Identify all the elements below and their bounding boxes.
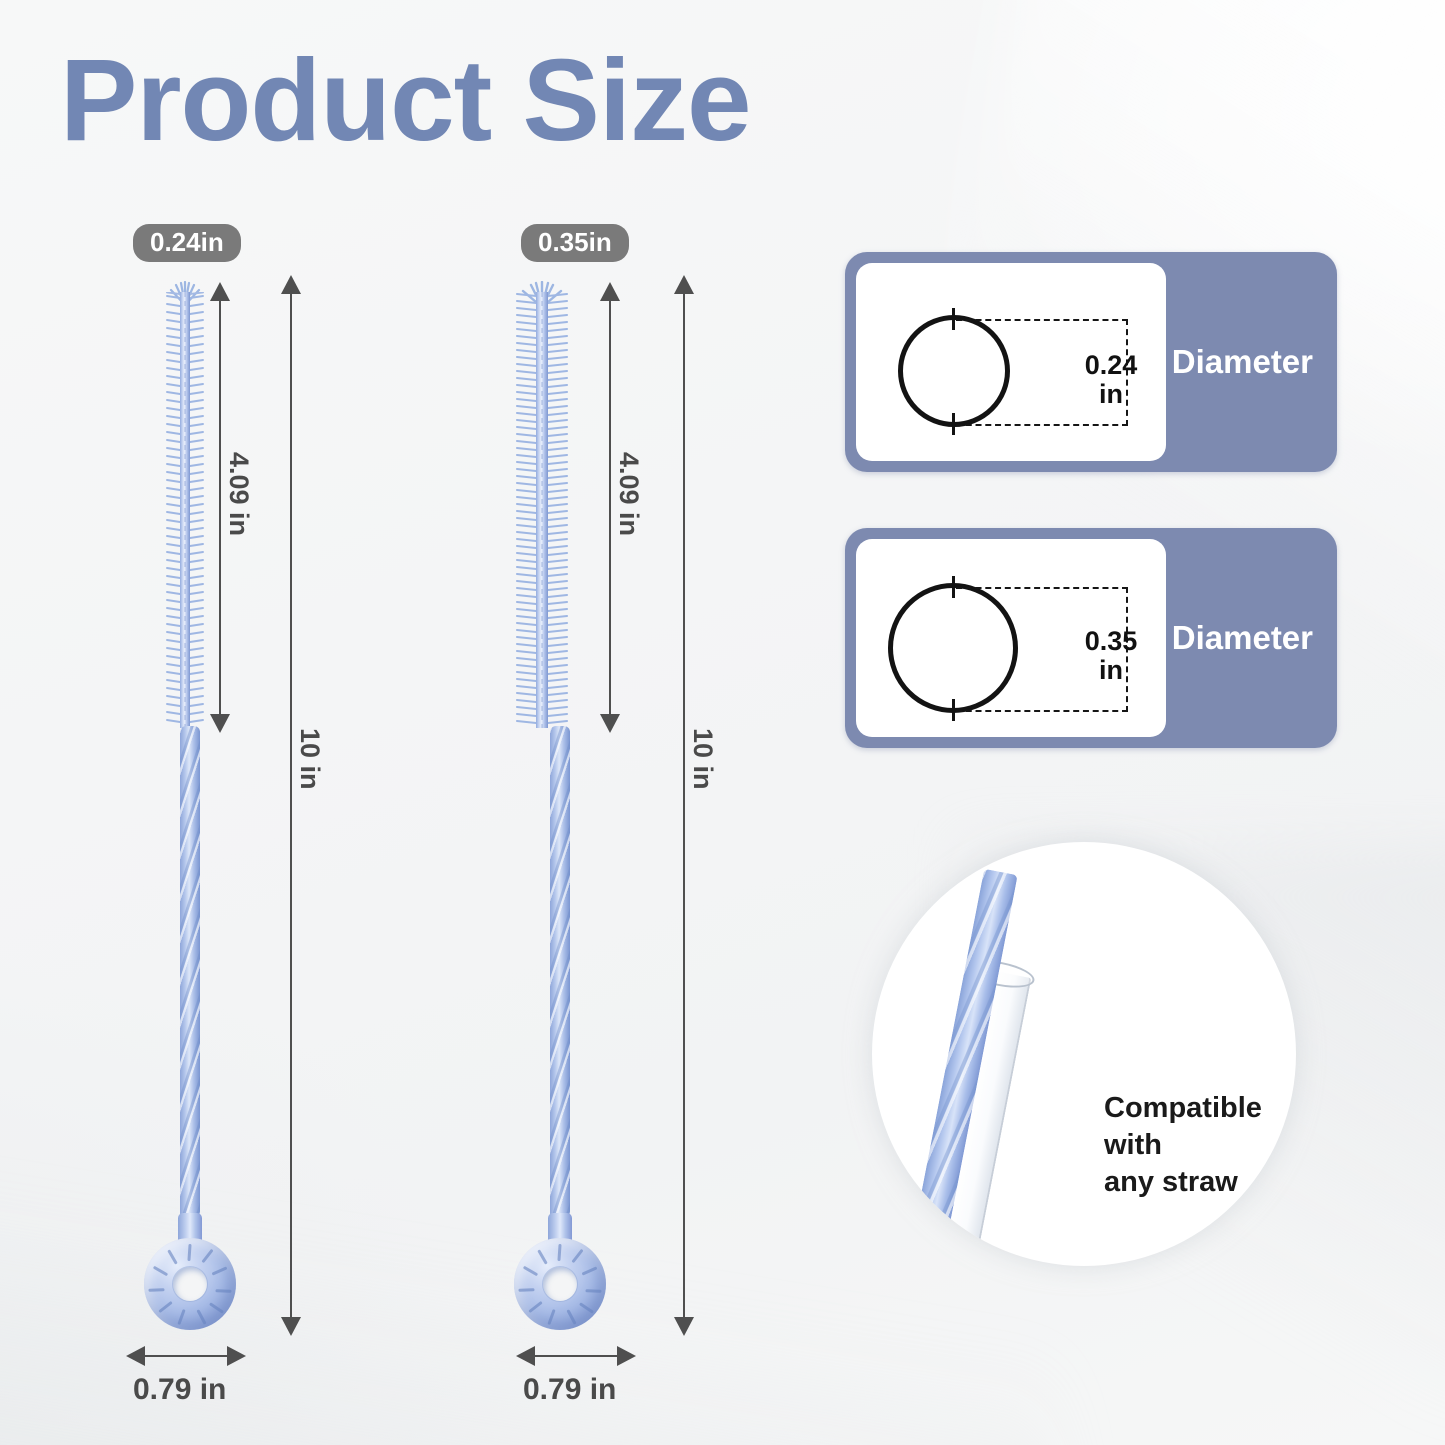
diameter-card-small-panel: 0.24 in xyxy=(856,263,1166,461)
diameter-card-small-label: Diameter xyxy=(1172,343,1313,381)
caption-line-2: any straw xyxy=(1104,1166,1238,1198)
diameter-dash-bottom-large xyxy=(956,710,1128,712)
diameter-tick-top-large xyxy=(952,576,955,598)
brush-large-shaft xyxy=(550,726,570,1219)
brush-large-ring-hole xyxy=(543,1267,577,1301)
diameter-card-small: 0.24 in Diameter xyxy=(845,252,1337,472)
straw-compatibility-inset: Compatible with any straw xyxy=(872,842,1296,1266)
diameter-value-unit-small: in xyxy=(1099,379,1123,409)
straw-compatibility-caption: Compatible with any straw xyxy=(1104,1090,1294,1201)
brush-large-ring-handle xyxy=(514,1238,606,1330)
diameter-circle-small xyxy=(898,315,1010,427)
product-size-infographic: Product Size 0.24in 0.35in xyxy=(0,0,1445,1445)
dimension-label-width-large: 0.79 in xyxy=(523,1373,616,1407)
diameter-card-large: 0.35 in Diameter xyxy=(845,528,1337,748)
caption-line-1: Compatible with xyxy=(1104,1092,1262,1161)
diameter-value-unit-large: in xyxy=(1099,655,1123,685)
diameter-tick-bottom-large xyxy=(952,699,955,721)
brush-large-bristles xyxy=(514,292,570,728)
diameter-tick-top-small xyxy=(952,308,955,330)
diameter-value-number-small: 0.24 xyxy=(1085,350,1138,380)
diameter-tick-bottom-small xyxy=(952,413,955,435)
diameter-dash-top-small xyxy=(956,319,1128,321)
diameter-value-large: 0.35 in xyxy=(1078,627,1144,685)
diameter-circle-large xyxy=(888,583,1018,713)
diameter-value-number-large: 0.35 xyxy=(1085,626,1138,656)
diameter-dash-bottom-small xyxy=(956,424,1128,426)
diameter-card-large-panel: 0.35 in xyxy=(856,539,1166,737)
dimension-label-brush-length-large: 4.09 in xyxy=(613,452,644,536)
diameter-value-small: 0.24 in xyxy=(1078,351,1144,409)
dimension-label-total-length-large: 10 in xyxy=(687,728,718,790)
diameter-card-large-label: Diameter xyxy=(1172,619,1313,657)
diameter-dash-top-large xyxy=(956,587,1128,589)
